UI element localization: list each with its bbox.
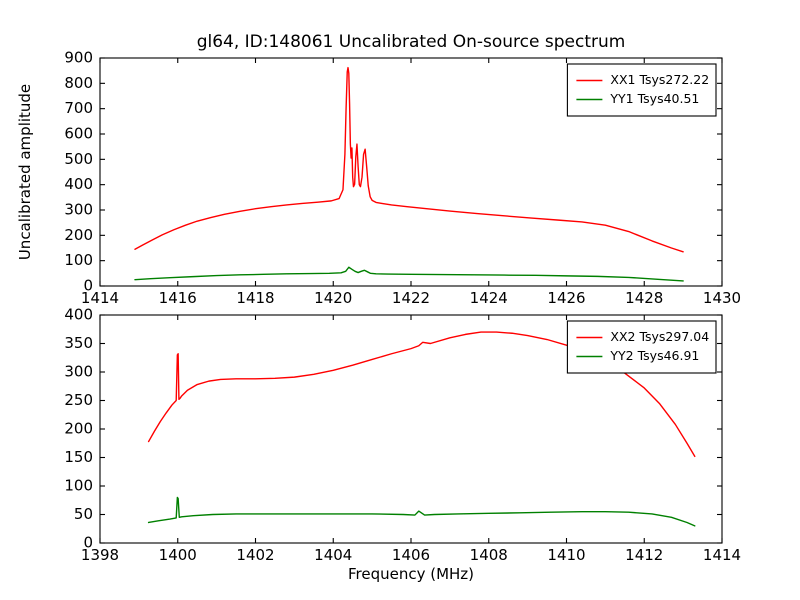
legend-label: XX2 Tsys297.04 <box>610 329 709 344</box>
legend-label: XX1 Tsys272.22 <box>610 72 709 87</box>
y-tick-label: 200 <box>64 420 93 438</box>
x-tick-label: 1428 <box>625 289 663 307</box>
x-tick-label: 1416 <box>159 289 197 307</box>
legend-label: YY1 Tsys40.51 <box>609 91 699 106</box>
y-tick-label: 700 <box>64 99 93 117</box>
y-tick-label: 400 <box>64 306 93 324</box>
y-tick-label: 250 <box>64 391 93 409</box>
x-tick-label: 1408 <box>470 546 508 564</box>
x-tick-label: 1418 <box>236 289 274 307</box>
legend-label: YY2 Tsys46.91 <box>609 348 699 363</box>
y-tick-label: 350 <box>64 334 93 352</box>
y-tick-label: 50 <box>74 505 93 523</box>
y-tick-label: 0 <box>83 534 93 552</box>
y-tick-label: 600 <box>64 125 93 143</box>
x-tick-label: 1426 <box>547 289 585 307</box>
x-tick-label: 1410 <box>547 546 585 564</box>
series-line-yy <box>149 497 695 526</box>
y-tick-label: 100 <box>64 251 93 269</box>
y-tick-label: 0 <box>83 277 93 295</box>
figure-title: gl64, ID:148061 Uncalibrated On-source s… <box>197 32 626 52</box>
y-tick-label: 200 <box>64 226 93 244</box>
y-tick-label: 300 <box>64 363 93 381</box>
x-tick-label: 1402 <box>236 546 274 564</box>
x-tick-label: 1420 <box>314 289 352 307</box>
x-tick-label: 1406 <box>392 546 430 564</box>
x-tick-label: 1424 <box>470 289 508 307</box>
y-tick-label: 150 <box>64 448 93 466</box>
x-tick-label: 1400 <box>159 546 197 564</box>
spectrum-plot-canvas: gl64, ID:148061 Uncalibrated On-source s… <box>0 0 800 600</box>
x-tick-label: 1412 <box>625 546 663 564</box>
x-tick-label: 1404 <box>314 546 352 564</box>
spectrum-figure: gl64, ID:148061 Uncalibrated On-source s… <box>0 0 800 600</box>
y-axis-label: Uncalibrated amplitude <box>16 84 34 260</box>
y-tick-label: 500 <box>64 150 93 168</box>
series-line-yy <box>135 267 683 281</box>
y-tick-label: 800 <box>64 74 93 92</box>
x-tick-label: 1414 <box>703 546 741 564</box>
legend: XX1 Tsys272.22YY1 Tsys40.51 <box>567 64 716 116</box>
legend: XX2 Tsys297.04YY2 Tsys46.91 <box>567 321 716 373</box>
x-axis-label: Frequency (MHz) <box>348 565 474 583</box>
panel-top: 1414141614181420142214241426142814300100… <box>16 49 741 308</box>
y-tick-label: 900 <box>64 49 93 67</box>
y-tick-label: 400 <box>64 175 93 193</box>
y-tick-label: 100 <box>64 477 93 495</box>
panel-bottom: 1398140014021404140614081410141214140501… <box>64 306 741 584</box>
y-tick-label: 300 <box>64 201 93 219</box>
x-tick-label: 1430 <box>703 289 741 307</box>
x-tick-label: 1422 <box>392 289 430 307</box>
